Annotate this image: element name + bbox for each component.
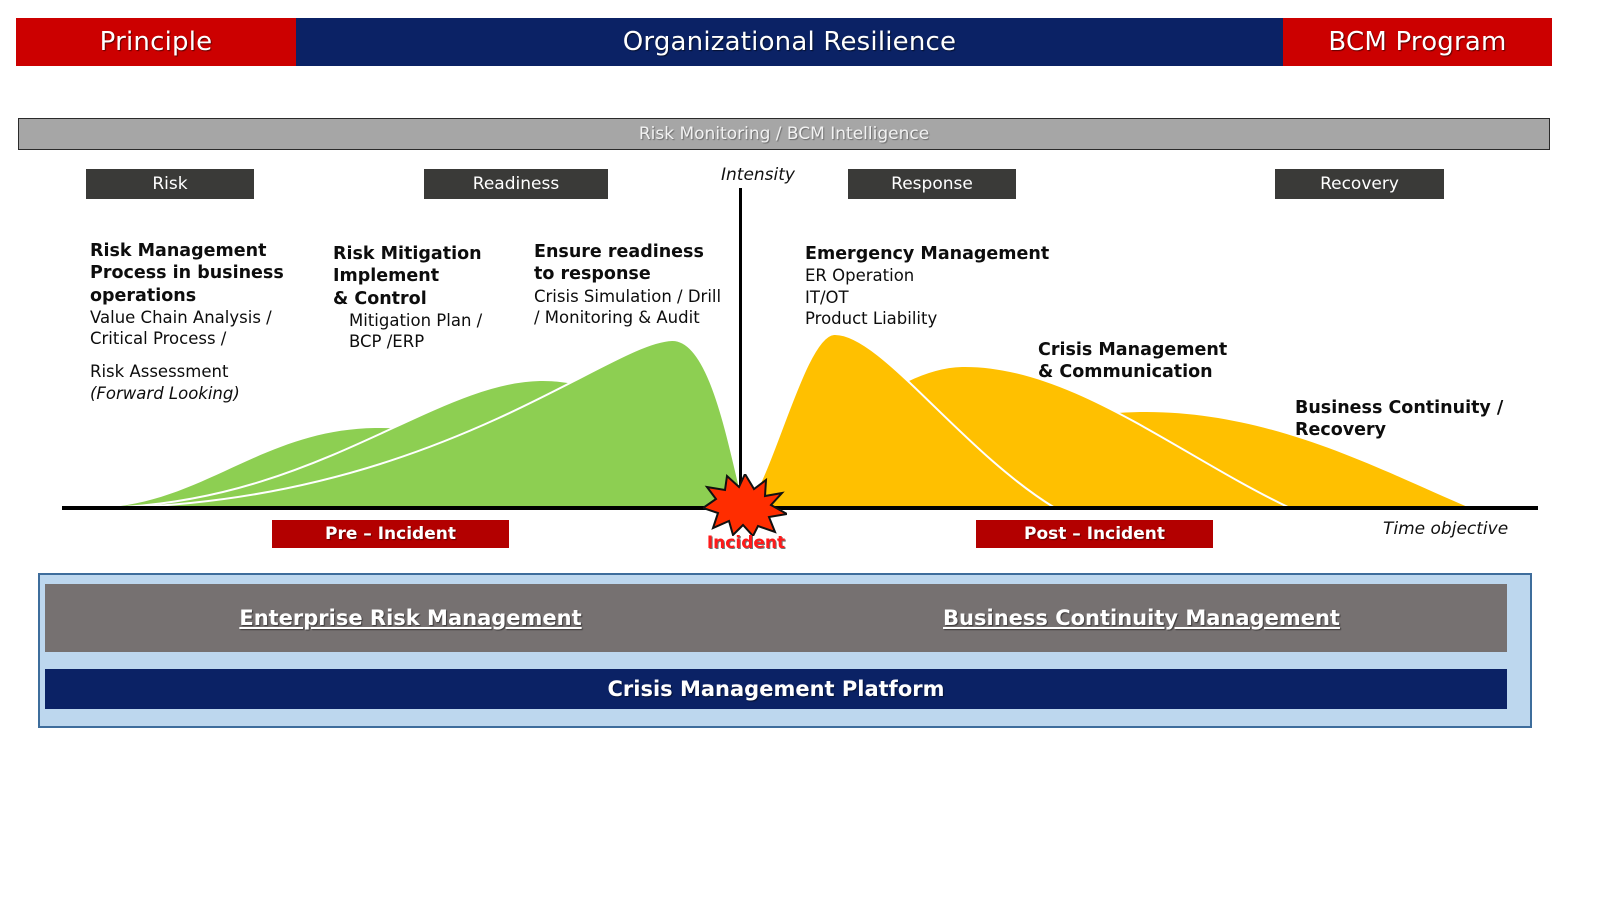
crisis-management-platform-band: Crisis Management Platform [45, 669, 1507, 709]
emergency-management-sub-line1: ER Operation [805, 265, 1065, 286]
text-block-crisis-management: Crisis Management & Communication [1038, 339, 1298, 384]
enterprise-risk-management-label: Enterprise Risk Management [45, 606, 776, 630]
business-continuity-management-label: Business Continuity Management [776, 606, 1507, 630]
risk-mitigation-sub-line1: Mitigation Plan / [333, 310, 523, 331]
business-continuity-title-line1: Business Continuity / [1295, 397, 1535, 419]
ensure-readiness-title-line2: to response [534, 263, 744, 285]
risk-management-title-line3: operations [90, 285, 340, 307]
ensure-readiness-sub-line1: Crisis Simulation / Drill [534, 286, 744, 307]
risk-management-sub-line4: (Forward Looking) [90, 383, 340, 404]
risk-mitigation-title-line2: Implement [333, 265, 523, 287]
phase-chip-readiness[interactable]: Readiness [424, 169, 608, 199]
intensity-axis-line [739, 188, 742, 510]
emergency-management-sub-line2: IT/OT [805, 287, 1065, 308]
risk-mitigation-sub-line2: BCP /ERP [333, 331, 523, 352]
intensity-axis-label: Intensity [721, 165, 795, 185]
management-band: Enterprise Risk Management Business Cont… [45, 584, 1507, 652]
text-block-ensure-readiness: Ensure readiness to response Crisis Simu… [534, 241, 744, 328]
ensure-readiness-title-line1: Ensure readiness [534, 241, 744, 263]
incident-star-icon [703, 474, 787, 536]
crisis-management-title-line1: Crisis Management [1038, 339, 1298, 361]
phase-chip-response[interactable]: Response [848, 169, 1016, 199]
risk-management-title-line2: Process in business [90, 262, 340, 284]
post-incident-pill: Post – Incident [976, 520, 1213, 548]
incident-label: Incident [705, 533, 787, 553]
risk-mitigation-title-line3: & Control [333, 288, 523, 310]
text-block-emergency-management: Emergency Management ER Operation IT/OT … [805, 243, 1065, 329]
risk-management-sub-line1: Value Chain Analysis / [90, 307, 340, 328]
resilience-curves-chart [0, 0, 1600, 900]
risk-management-sub-line3: Risk Assessment [90, 361, 340, 382]
phase-chip-recovery[interactable]: Recovery [1275, 169, 1444, 199]
risk-mitigation-title-line1: Risk Mitigation [333, 243, 523, 265]
risk-management-sub-line2: Critical Process / [90, 328, 340, 349]
text-block-risk-mitigation: Risk Mitigation Implement & Control Miti… [333, 243, 523, 352]
phase-chip-risk[interactable]: Risk [86, 169, 254, 199]
crisis-management-title-line2: & Communication [1038, 361, 1298, 383]
business-continuity-title-line2: Recovery [1295, 419, 1535, 441]
pre-incident-pill: Pre – Incident [272, 520, 509, 548]
risk-management-title-line1: Risk Management [90, 240, 340, 262]
spacer [90, 349, 340, 361]
text-block-business-continuity: Business Continuity / Recovery [1295, 397, 1535, 442]
text-block-risk-management: Risk Management Process in business oper… [90, 240, 340, 404]
time-objective-label: Time objective [1383, 519, 1508, 539]
ensure-readiness-sub-line2: / Monitoring & Audit [534, 307, 744, 328]
emergency-management-sub-line3: Product Liability [805, 308, 1065, 329]
time-axis-line [62, 506, 1538, 510]
emergency-management-title-line1: Emergency Management [805, 243, 1065, 265]
